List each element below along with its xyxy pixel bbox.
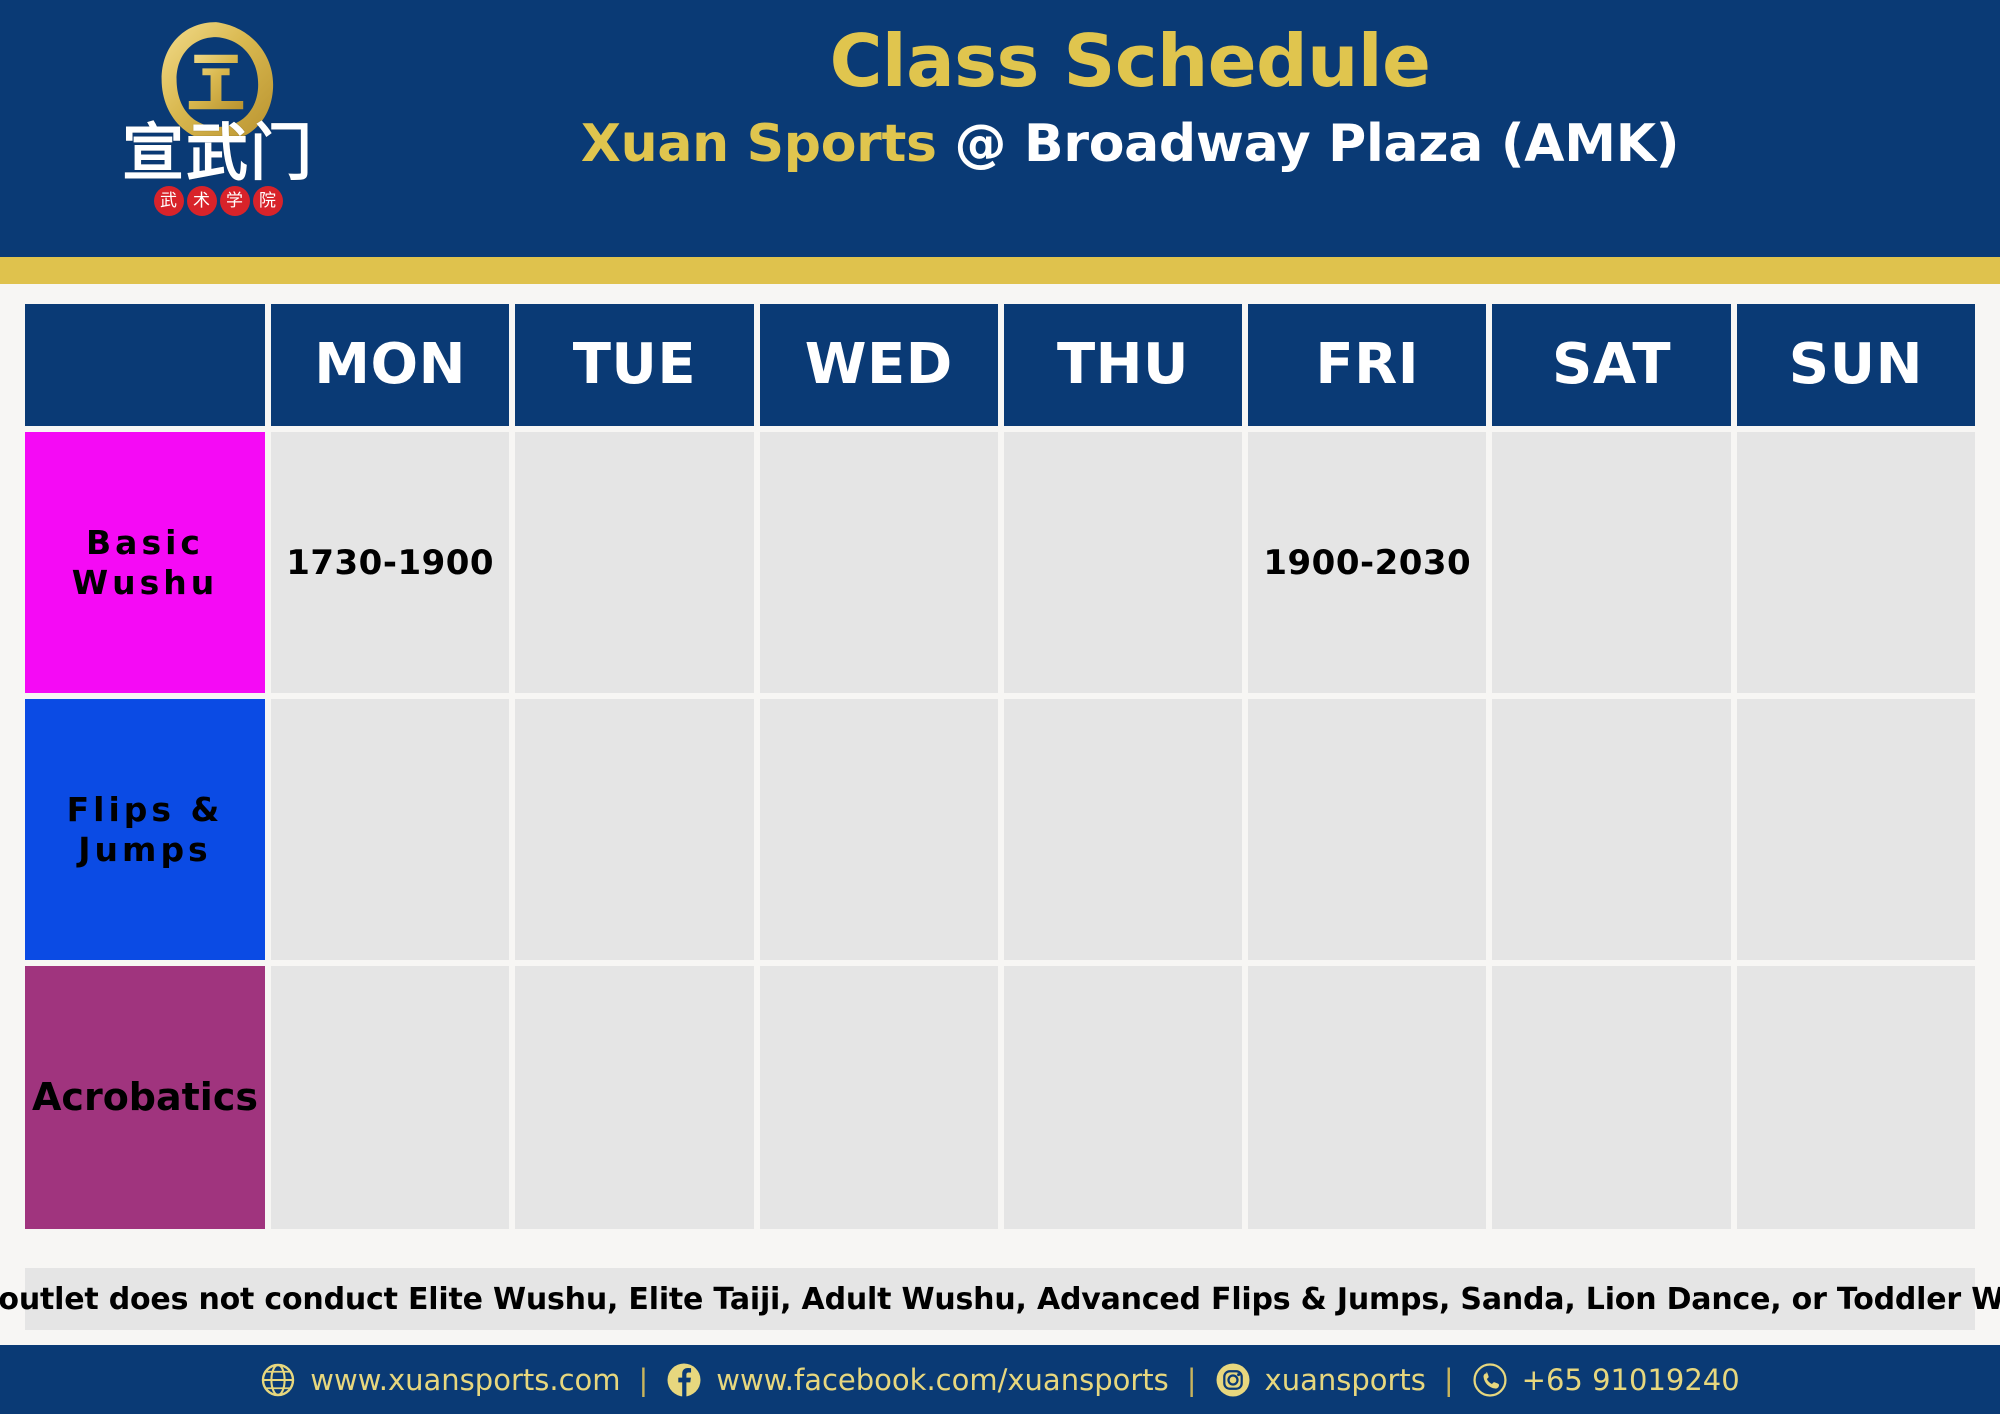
slot-basic-wushu-sat[interactable]	[1492, 432, 1730, 693]
class-label-basic-wushu: Basic Wushu	[25, 432, 265, 693]
slot-flips-jumps-tue[interactable]	[515, 699, 753, 960]
schedule-table: MON TUE WED THU FRI SAT SUN Basic Wushu …	[25, 304, 1975, 1229]
seal-char: 术	[187, 186, 217, 216]
day-header-label: SAT	[1552, 337, 1671, 393]
day-header-tue: TUE	[515, 304, 753, 426]
day-header-label: THU	[1057, 337, 1189, 393]
title-block: Class Schedule Xuan Sports @ Broadway Pl…	[330, 18, 1930, 177]
slot-flips-jumps-wed[interactable]	[760, 699, 998, 960]
slot-acrobatics-sun[interactable]	[1737, 966, 1975, 1229]
slot-basic-wushu-wed[interactable]	[760, 432, 998, 693]
seal-char: 学	[220, 186, 250, 216]
slot-basic-wushu-mon[interactable]: 1730-1900	[271, 432, 509, 693]
day-header-fri: FRI	[1248, 304, 1486, 426]
contact-instagram[interactable]: xuansports	[1215, 1362, 1426, 1398]
day-header-label: MON	[314, 337, 466, 393]
slot-acrobatics-thu[interactable]	[1004, 966, 1242, 1229]
page-subtitle: Xuan Sports @ Broadway Plaza (AMK)	[330, 112, 1930, 177]
slot-acrobatics-wed[interactable]	[760, 966, 998, 1229]
class-label-line: Jumps	[67, 830, 224, 870]
day-header-label: TUE	[573, 337, 696, 393]
contact-footer: www.xuansports.com | www.facebook.com/xu…	[0, 1345, 2000, 1414]
day-header-label: SUN	[1789, 337, 1923, 393]
subtitle-brand: Xuan Sports	[581, 114, 937, 174]
slot-basic-wushu-sun[interactable]	[1737, 432, 1975, 693]
website-url: www.xuansports.com	[310, 1363, 620, 1397]
subtitle-location: @ Broadway Plaza (AMK)	[937, 114, 1679, 174]
day-header-thu: THU	[1004, 304, 1242, 426]
globe-icon	[260, 1362, 296, 1398]
instagram-icon	[1215, 1362, 1251, 1398]
page-title: Class Schedule	[330, 18, 1930, 106]
slot-flips-jumps-fri[interactable]	[1248, 699, 1486, 960]
seal-char: 武	[154, 186, 184, 216]
slot-flips-jumps-sat[interactable]	[1492, 699, 1730, 960]
seal-char: 院	[253, 186, 283, 216]
class-label-flips-jumps: Flips & Jumps	[25, 699, 265, 960]
brand-logo: 宣武门 武 术 学 院	[108, 14, 328, 244]
day-header-label: WED	[805, 337, 953, 393]
footer-separator: |	[1169, 1363, 1215, 1397]
class-label-line: Flips &	[67, 790, 224, 830]
slot-flips-jumps-sun[interactable]	[1737, 699, 1975, 960]
facebook-icon	[666, 1362, 702, 1398]
slot-time: 1900-2030	[1263, 543, 1471, 583]
slot-acrobatics-sat[interactable]	[1492, 966, 1730, 1229]
contact-facebook[interactable]: www.facebook.com/xuansports	[666, 1362, 1168, 1398]
footer-separator: |	[1426, 1363, 1472, 1397]
footnote-text: *This outlet does not conduct Elite Wush…	[0, 1282, 2000, 1317]
schedule-grid: MON TUE WED THU FRI SAT SUN Basic Wushu …	[25, 304, 1975, 1229]
gold-divider-bar	[0, 257, 2000, 284]
contact-website[interactable]: www.xuansports.com	[260, 1362, 620, 1398]
day-header-sun: SUN	[1737, 304, 1975, 426]
footnote-bar: *This outlet does not conduct Elite Wush…	[25, 1268, 1975, 1330]
class-label-acrobatics: Acrobatics	[25, 966, 265, 1229]
class-schedule-poster: 宣武门 武 术 学 院 Class Schedule Xuan Sports @…	[0, 0, 2000, 1414]
day-header-label: FRI	[1315, 337, 1419, 393]
logo-hanzi-text: 宣武门	[108, 122, 328, 184]
day-header-wed: WED	[760, 304, 998, 426]
slot-acrobatics-mon[interactable]	[271, 966, 509, 1229]
class-label-line: Basic	[72, 523, 219, 563]
slot-time: 1730-1900	[286, 543, 494, 583]
table-corner-cell	[25, 304, 265, 426]
contact-phone[interactable]: +65 91019240	[1472, 1362, 1740, 1398]
phone-icon	[1472, 1362, 1508, 1398]
footer-separator: |	[621, 1363, 667, 1397]
slot-flips-jumps-thu[interactable]	[1004, 699, 1242, 960]
phone-number: +65 91019240	[1522, 1363, 1740, 1397]
slot-basic-wushu-thu[interactable]	[1004, 432, 1242, 693]
day-header-sat: SAT	[1492, 304, 1730, 426]
class-label-line: Acrobatics	[32, 1075, 258, 1121]
instagram-handle: xuansports	[1265, 1363, 1426, 1397]
slot-flips-jumps-mon[interactable]	[271, 699, 509, 960]
class-label-line: Wushu	[72, 563, 219, 603]
slot-basic-wushu-tue[interactable]	[515, 432, 753, 693]
poster-header: 宣武门 武 术 学 院 Class Schedule Xuan Sports @…	[0, 0, 2000, 257]
slot-basic-wushu-fri[interactable]: 1900-2030	[1248, 432, 1486, 693]
day-header-mon: MON	[271, 304, 509, 426]
slot-acrobatics-fri[interactable]	[1248, 966, 1486, 1229]
slot-acrobatics-tue[interactable]	[515, 966, 753, 1229]
facebook-url: www.facebook.com/xuansports	[716, 1363, 1168, 1397]
logo-seal-row: 武 术 学 院	[108, 186, 328, 216]
